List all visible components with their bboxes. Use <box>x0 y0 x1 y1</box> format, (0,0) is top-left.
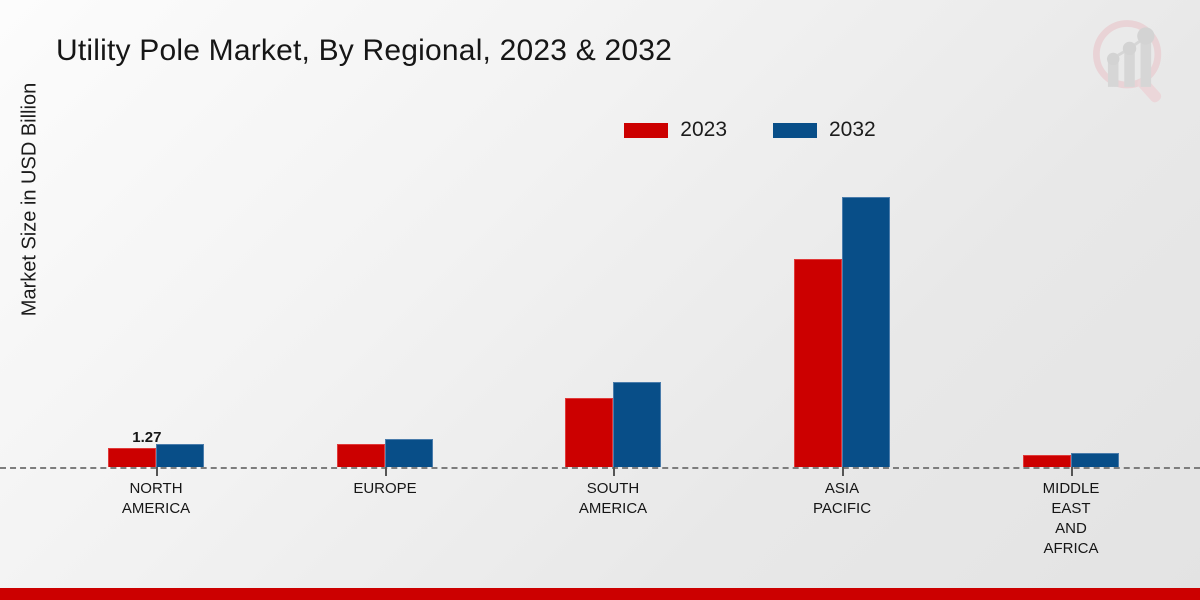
bar-2032-0[interactable] <box>156 444 204 467</box>
x-axis-label: NORTHAMERICA <box>56 479 256 519</box>
x-axis-label: MIDDLEEASTANDAFRICA <box>971 479 1171 559</box>
bottom-accent-bar <box>0 588 1200 600</box>
bar-2032-3[interactable] <box>842 197 890 467</box>
bar-2023-4[interactable] <box>1023 455 1071 467</box>
axis-baseline <box>0 467 1200 469</box>
x-tick <box>385 467 387 476</box>
bar-2032-4[interactable] <box>1071 453 1119 467</box>
chart-container: Utility Pole Market, By Regional, 2023 &… <box>0 0 1200 600</box>
chart-legend: 2023 2032 <box>0 118 1200 142</box>
legend-item-2023[interactable]: 2023 <box>624 118 727 142</box>
legend-label-2023: 2023 <box>680 118 727 142</box>
legend-swatch-2023 <box>624 123 668 138</box>
plot-area: 1.27 <box>40 160 1200 467</box>
legend-item-2032[interactable]: 2032 <box>773 118 876 142</box>
bar-2032-2[interactable] <box>613 382 661 467</box>
bar-2032-1[interactable] <box>385 439 433 467</box>
x-tick <box>1071 467 1073 476</box>
legend-label-2032: 2032 <box>829 118 876 142</box>
x-axis-label: EUROPE <box>285 479 485 499</box>
legend-swatch-2032 <box>773 123 817 138</box>
bar-2023-1[interactable] <box>337 444 385 467</box>
x-tick <box>842 467 844 476</box>
x-tick <box>613 467 615 476</box>
bar-2023-0[interactable]: 1.27 <box>108 448 156 467</box>
x-axis-label: SOUTHAMERICA <box>513 479 713 519</box>
y-axis-title: Market Size in USD Billion <box>19 30 42 370</box>
bar-2023-3[interactable] <box>794 259 842 467</box>
chart-title: Utility Pole Market, By Regional, 2023 &… <box>56 34 672 68</box>
market-research-magnifier-logo <box>1082 12 1178 108</box>
x-axis-label: ASIAPACIFIC <box>742 479 942 519</box>
x-tick <box>156 467 158 476</box>
bar-2023-2[interactable] <box>565 398 613 467</box>
